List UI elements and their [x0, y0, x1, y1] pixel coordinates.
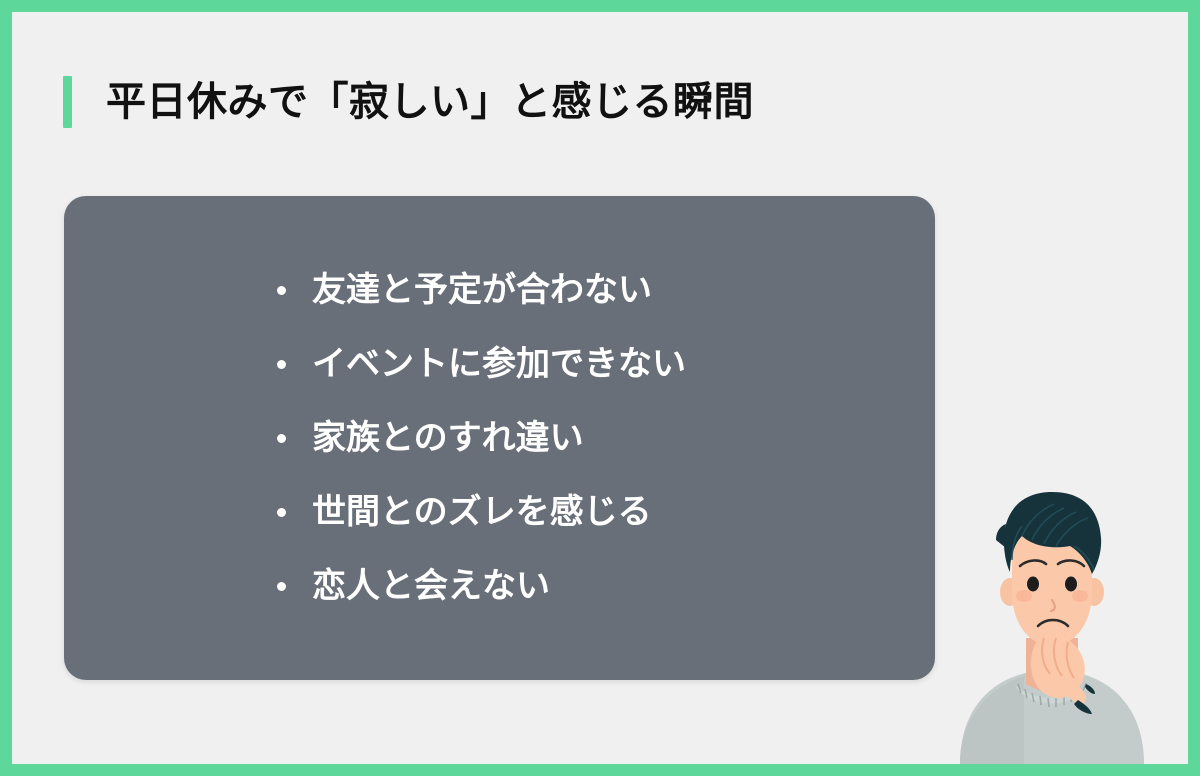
bullet-dot-icon — [277, 582, 286, 591]
list-item: 世間とのズレを感じる — [277, 475, 935, 549]
bullet-dot-icon — [277, 360, 286, 369]
list-item-label: 恋人と会えない — [312, 569, 550, 603]
list-item-label: 友達と予定が合わない — [312, 273, 652, 307]
list-item-label: 世間とのズレを感じる — [312, 495, 652, 529]
list-item-label: 家族とのすれ違い — [312, 421, 584, 455]
slide-canvas: 平日休みで「寂しい」と感じる瞬間 友達と予定が合わない イベントに参加できない … — [12, 12, 1188, 764]
bullet-dot-icon — [277, 286, 286, 295]
list-item: 友達と予定が合わない — [277, 253, 935, 327]
slide-frame: 平日休みで「寂しい」と感じる瞬間 友達と予定が合わない イベントに参加できない … — [0, 0, 1200, 776]
bullet-list-card: 友達と予定が合わない イベントに参加できない 家族とのすれ違い 世間とのズレを感… — [64, 196, 935, 680]
list-item-label: イベントに参加できない — [312, 347, 686, 381]
thinking-man-illustration — [952, 488, 1152, 764]
title-accent-bar — [63, 76, 72, 128]
list-item: 恋人と会えない — [277, 549, 935, 623]
bullet-dot-icon — [277, 434, 286, 443]
page-title: 平日休みで「寂しい」と感じる瞬間 — [63, 76, 754, 128]
list-item: イベントに参加できない — [277, 327, 935, 401]
bullet-dot-icon — [277, 508, 286, 517]
title-label: 平日休みで「寂しい」と感じる瞬間 — [106, 82, 754, 122]
list-item: 家族とのすれ違い — [277, 401, 935, 475]
